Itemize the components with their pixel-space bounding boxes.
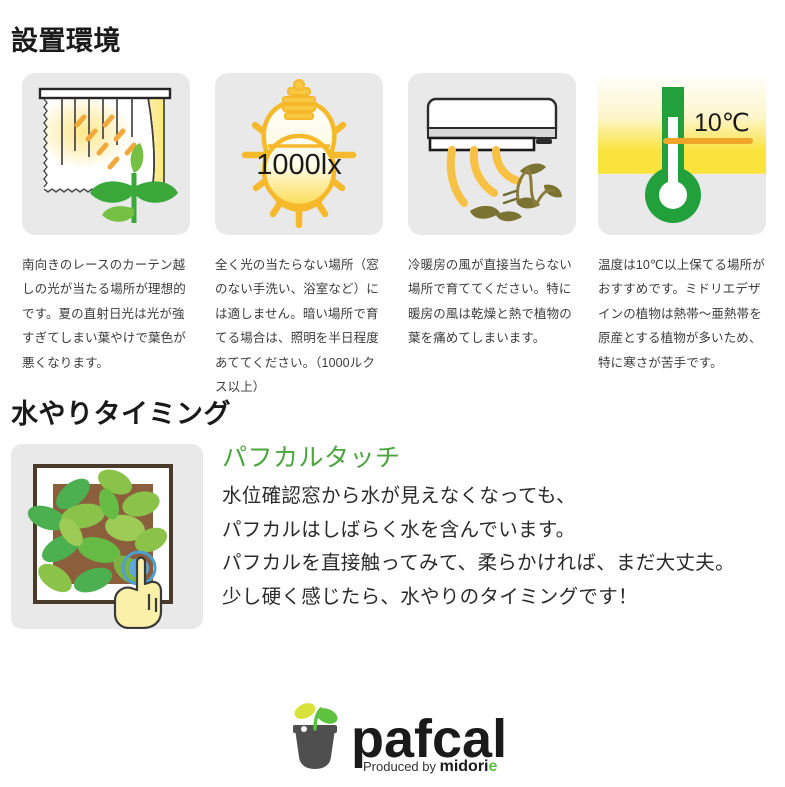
watering-line-1: パフカルはしばらく水を含んでいます。 — [222, 514, 782, 548]
environment-icon-row: 1000lx — [0, 73, 785, 238]
pafcal-logo: pafcal Produced by midorie — [287, 697, 512, 775]
lace-curtain-sunlight-icon — [22, 73, 190, 235]
section-heading-watering: 水やりタイミング — [11, 392, 231, 431]
svg-text:1000lx: 1000lx — [256, 149, 342, 181]
page-root: 設置環境 — [0, 0, 785, 787]
watering-line-3: 少し硬く感じたら、水やりのタイミングです！ — [222, 581, 782, 615]
environment-item-1: 1000lx — [215, 73, 383, 235]
thermometer-icon: 10℃ — [598, 73, 766, 235]
environment-item-0 — [22, 73, 190, 235]
air-conditioner-wind-icon — [408, 73, 576, 235]
watering-text-block: パフカルタッチ 水位確認窓から水が見えなくなっても、 パフカルはしばらく水を含ん… — [222, 443, 782, 614]
pafcal-sprout-pot-logo — [292, 700, 340, 769]
section-heading-environment: 設置環境 — [11, 19, 121, 58]
svg-text:10℃: 10℃ — [694, 109, 750, 137]
watering-title: パフカルタッチ — [222, 443, 782, 474]
pafcal-touch-plant-panel-icon — [11, 444, 203, 629]
logo-tagline-brand-accent: e — [489, 758, 498, 775]
logo-tagline-brand: midori — [440, 758, 489, 775]
logo-tagline-prefix: Produced by — [363, 759, 440, 774]
environment-caption-0: 南向きのレースのカーテン越しの光が当たる場所が理想的です。夏の直射日光は光が強す… — [22, 253, 194, 375]
environment-caption-3: 温度は10℃以上保てる場所がおすすめです。ミドリエデザインの植物は熱帯〜亜熱帯を… — [598, 253, 770, 375]
light-bulb-1000lx-icon: 1000lx — [215, 73, 383, 235]
environment-item-3: 10℃ — [598, 73, 766, 235]
environment-caption-1: 全く光の当たらない場所（窓のない手洗い、浴室など）には適しません。暗い場所で育て… — [215, 253, 387, 399]
watering-line-2: パフカルを直接触ってみて、柔らかければ、まだ大丈夫。 — [222, 547, 782, 581]
watering-line-0: 水位確認窓から水が見えなくなっても、 — [222, 480, 782, 514]
environment-caption-2: 冷暖房の風が直接当たらない場所で育ててください。特に暖房の風は乾燥と熱で植物の葉… — [408, 253, 580, 351]
logo-tagline: Produced by midorie — [363, 758, 498, 775]
environment-item-2 — [408, 73, 576, 235]
